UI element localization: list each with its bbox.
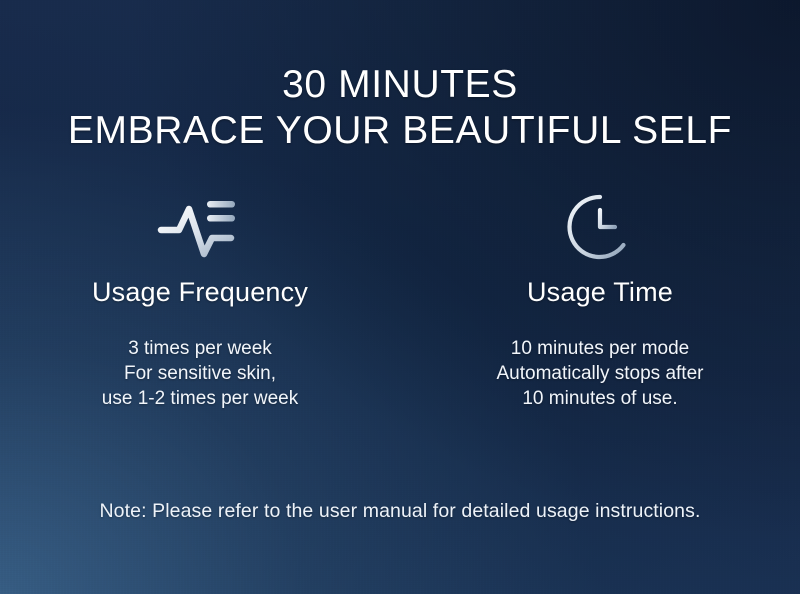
clock-icon xyxy=(400,190,800,264)
product-info-poster: 30 MINUTES EMBRACE YOUR BEAUTIFUL SELF xyxy=(0,0,800,594)
feature-body-line: use 1-2 times per week xyxy=(0,386,400,411)
feature-column-usage-frequency: Usage Frequency 3 times per week For sen… xyxy=(0,190,400,411)
headline-line-2: EMBRACE YOUR BEAUTIFUL SELF xyxy=(0,108,800,154)
feature-body-line: 10 minutes per mode xyxy=(400,336,800,361)
feature-body-line: For sensitive skin, xyxy=(0,361,400,386)
page-title: 30 MINUTES EMBRACE YOUR BEAUTIFUL SELF xyxy=(0,62,800,154)
feature-column-usage-time: Usage Time 10 minutes per mode Automatic… xyxy=(400,190,800,411)
headline-line-1: 30 MINUTES xyxy=(0,62,800,108)
feature-body-line: 3 times per week xyxy=(0,336,400,361)
feature-body-usage-frequency: 3 times per week For sensitive skin, use… xyxy=(0,336,400,411)
feature-body-usage-time: 10 minutes per mode Automatically stops … xyxy=(400,336,800,411)
feature-body-line: 10 minutes of use. xyxy=(400,386,800,411)
pulse-icon xyxy=(0,190,400,264)
feature-heading-usage-frequency: Usage Frequency xyxy=(0,276,400,308)
feature-heading-usage-time: Usage Time xyxy=(400,276,800,308)
feature-columns: Usage Frequency 3 times per week For sen… xyxy=(0,190,800,411)
footer-note: Note: Please refer to the user manual fo… xyxy=(0,498,800,524)
feature-body-line: Automatically stops after xyxy=(400,361,800,386)
